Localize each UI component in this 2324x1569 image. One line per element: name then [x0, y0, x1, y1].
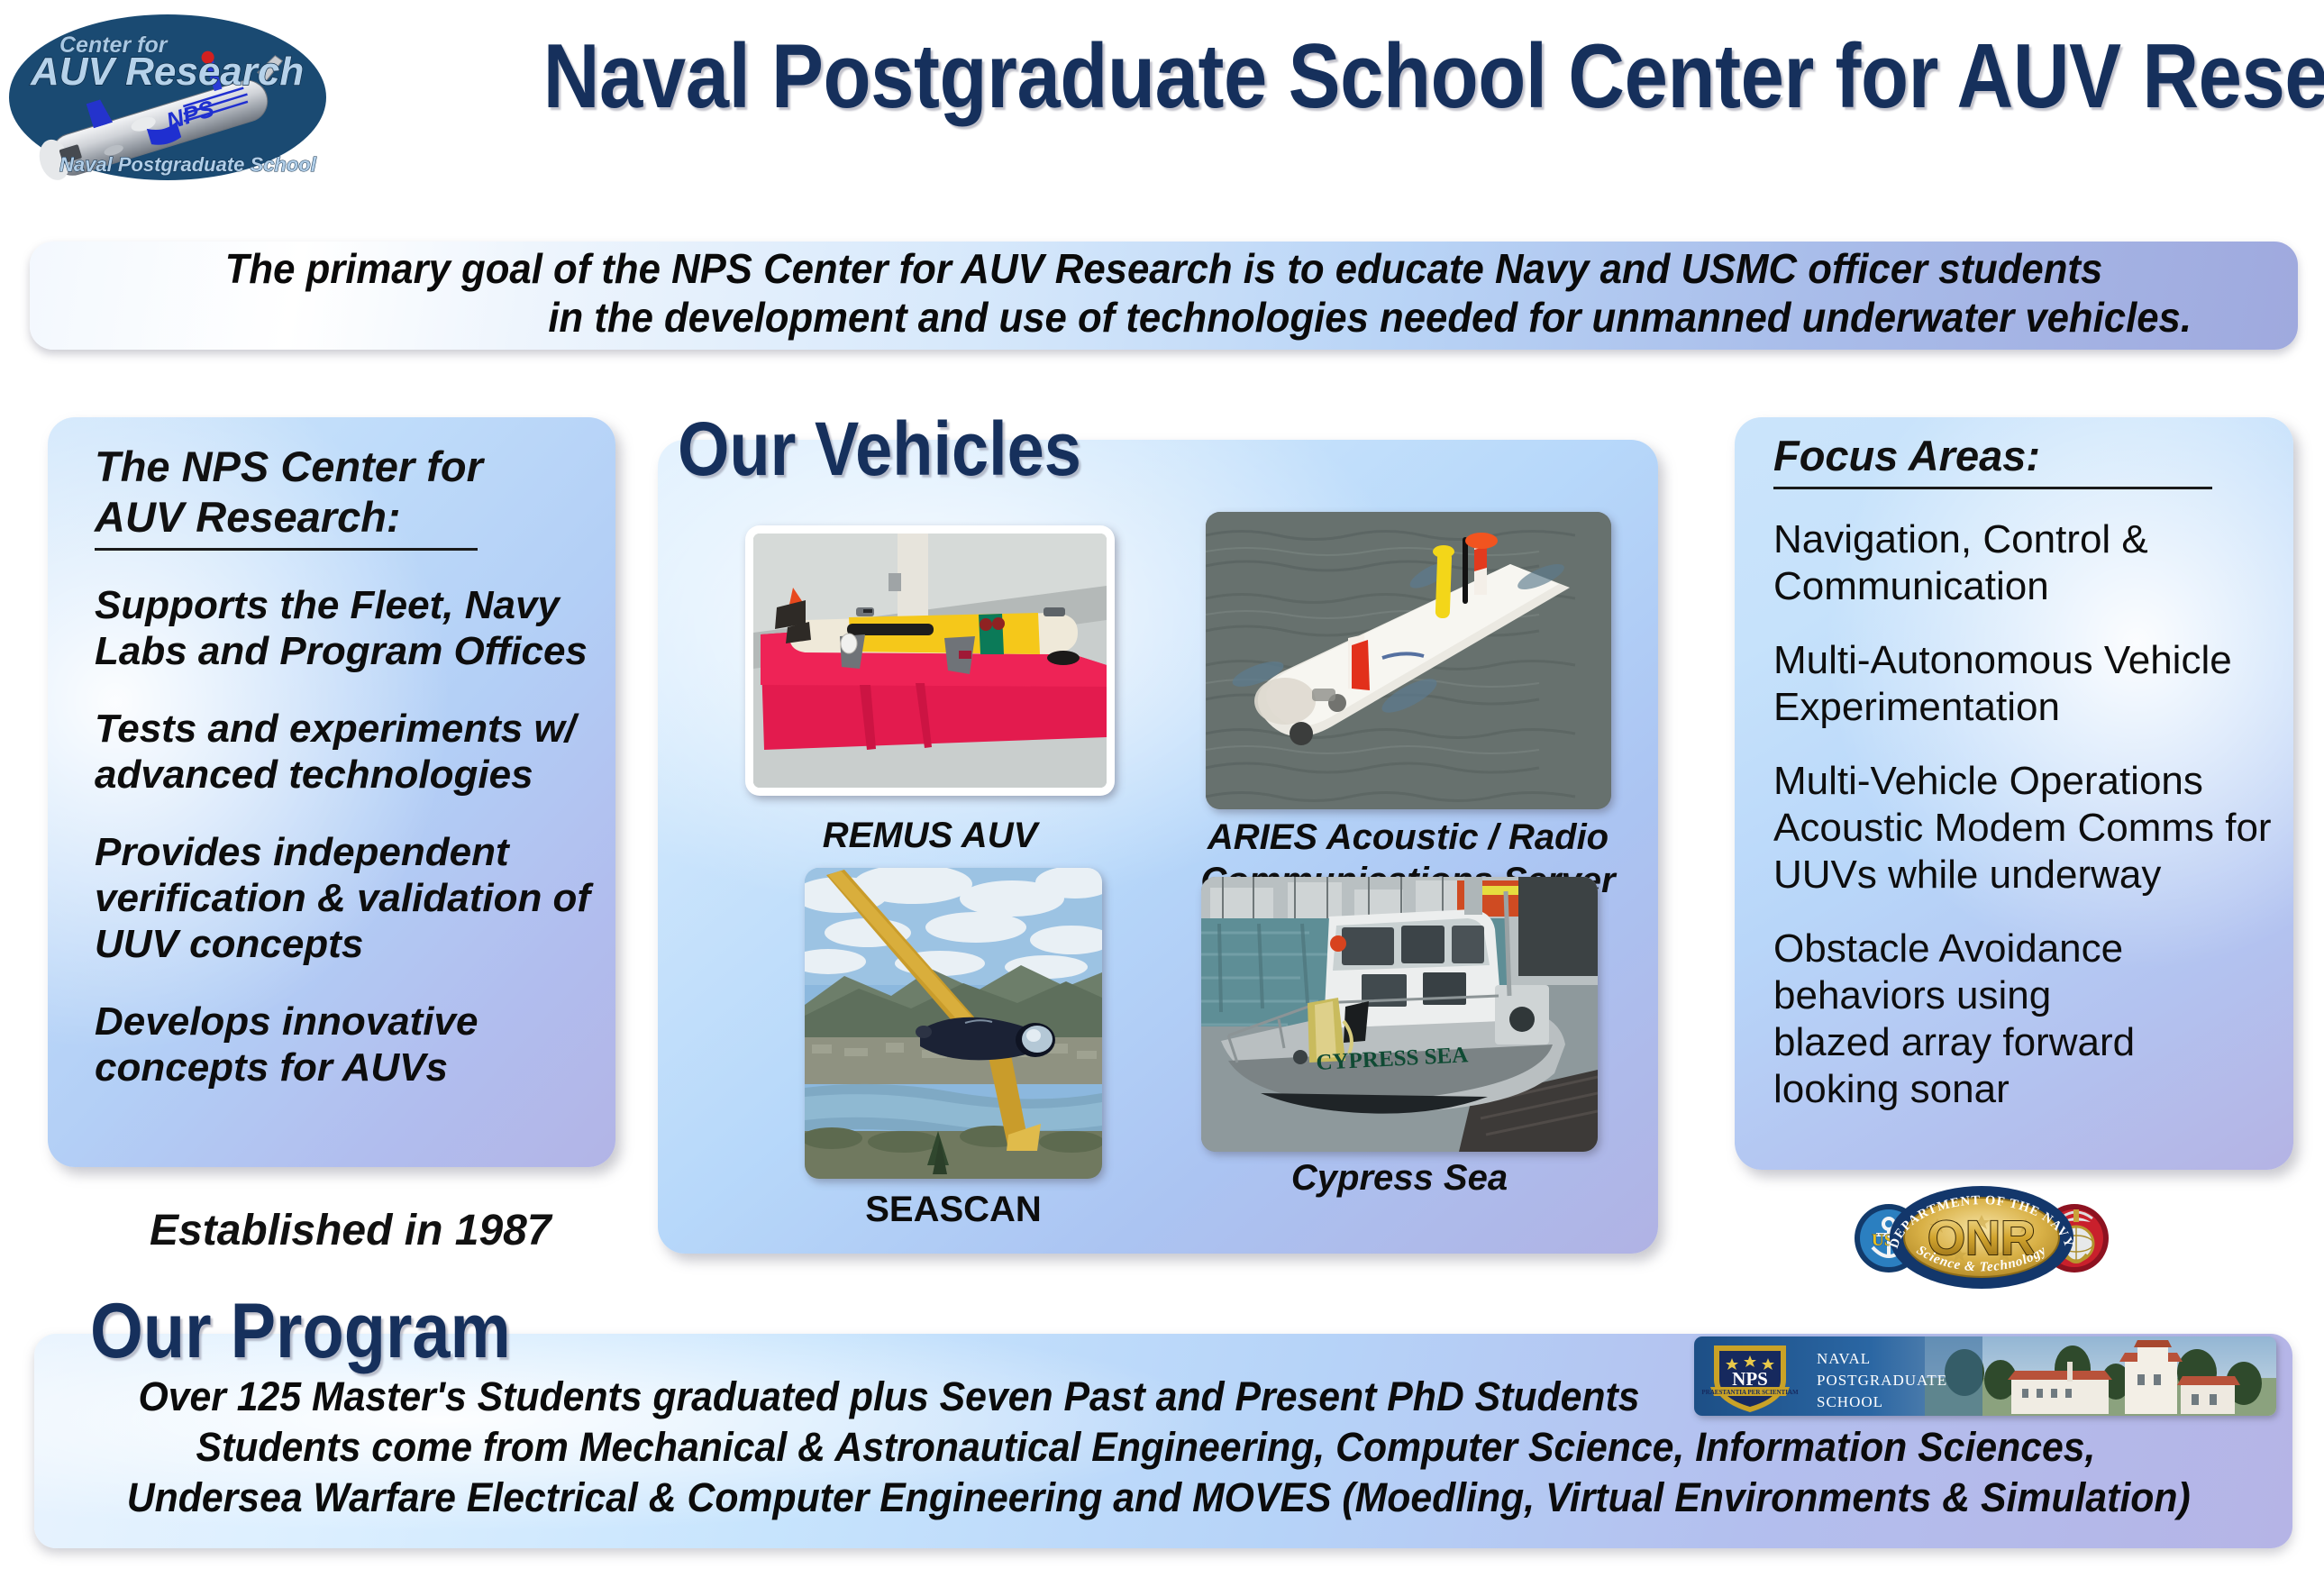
nps-banner-logo: NPS PRAESTANTIA PER SCIENTIAM NAVAL POST…: [1694, 1336, 2276, 1416]
onr-logo: USN ONR DEPARTMENT O: [1838, 1182, 2125, 1292]
cypress-caption: Cypress Sea: [1201, 1156, 1598, 1200]
nps-banner-line3: SCHOOL: [1817, 1393, 1883, 1410]
nps-shield-text: NPS: [1732, 1368, 1768, 1390]
focus-item-2: Multi-Autonomous Vehicle Experimentation: [1773, 637, 2278, 731]
logo-line2: AUV Research: [30, 50, 304, 94]
seascan-caption: SEASCAN: [805, 1188, 1102, 1231]
page-title: Naval Postgraduate School Center for AUV…: [543, 23, 2179, 130]
left-panel-item-1: Supports the Fleet, Navy Labs and Progra…: [95, 582, 599, 674]
left-panel-content: The NPS Center for AUV Research: Support…: [95, 442, 599, 1090]
remus-auv-photo: [745, 525, 1115, 796]
left-panel-divider: [95, 548, 478, 551]
program-line-2: Students come from Mechanical & Astronau…: [110, 1422, 2233, 1473]
established-year: Established in 1987: [150, 1205, 551, 1257]
nps-banner-line2: POSTGRADUATE: [1817, 1372, 1947, 1389]
program-line-3: Undersea Warfare Electrical & Computer E…: [110, 1473, 2233, 1523]
left-panel-title: The NPS Center for AUV Research:: [95, 442, 599, 543]
focus-panel-content: Focus Areas: Navigation, Control & Commu…: [1773, 431, 2278, 1113]
focus-panel-divider: [1773, 487, 2212, 489]
goal-line-1: The primary goal of the NPS Center for A…: [121, 244, 2207, 293]
focus-item-4: Obstacle Avoidance behaviors using blaze…: [1773, 926, 2278, 1113]
nps-banner-line1: NAVAL: [1817, 1350, 1871, 1367]
left-panel-item-2: Tests and experiments w/ advanced techno…: [95, 706, 599, 798]
remus-caption: REMUS AUV: [745, 814, 1115, 857]
goal-statement-banner: The primary goal of the NPS Center for A…: [30, 242, 2298, 350]
our-vehicles-heading: Our Vehicles: [678, 407, 1081, 490]
nps-shield-motto: PRAESTANTIA PER SCIENTIAM: [1701, 1389, 1799, 1396]
seascan-uav-photo: [805, 868, 1102, 1179]
goal-line-2: in the development and use of technologi…: [121, 293, 2207, 342]
auv-center-logo: NPS Center for AUV Research Naval Postgr…: [7, 7, 395, 195]
focus-item-1: Navigation, Control & Communication: [1773, 516, 2278, 610]
our-program-heading: Our Program: [90, 1289, 511, 1373]
left-panel-item-4: Develops innovative concepts for AUVs: [95, 999, 599, 1090]
left-panel-item-3: Provides independent verification & vali…: [95, 829, 599, 967]
focus-item-3: Multi-Vehicle Operations Acoustic Modem …: [1773, 758, 2278, 899]
cypress-sea-boat-photo: CYPRESS SEA: [1201, 877, 1598, 1152]
poster-canvas: NPS Center for AUV Research Naval Postgr…: [0, 0, 2324, 1569]
aries-auv-photo: [1206, 512, 1611, 809]
focus-panel-title: Focus Areas:: [1773, 431, 2278, 481]
logo-line3: Naval Postgraduate School: [59, 153, 317, 176]
